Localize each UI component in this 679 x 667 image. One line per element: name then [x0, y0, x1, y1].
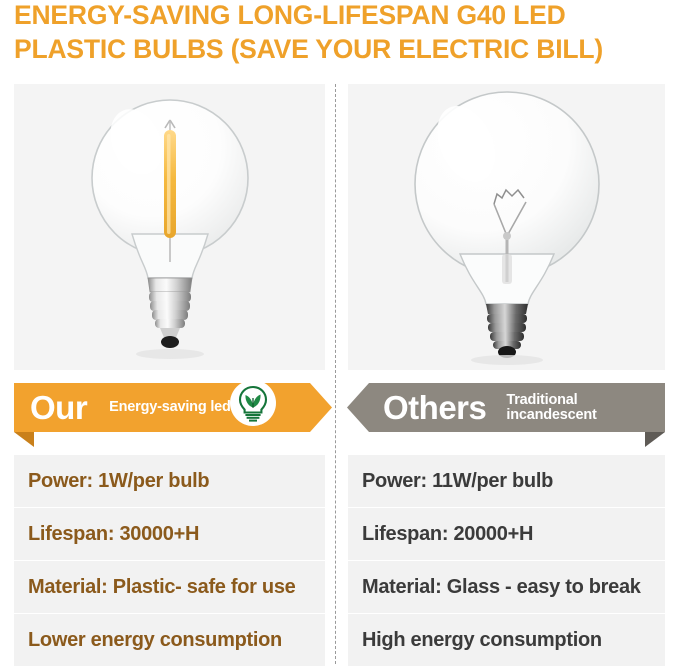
table-row: Material: Plastic- safe for use Material… [0, 561, 679, 613]
eco-bulb-leaf-icon [229, 379, 277, 427]
banner-our-title: Our [30, 391, 87, 424]
table-row: Lower energy consumption High energy con… [0, 614, 679, 666]
comparison-cell-our-consumption: Lower energy consumption [14, 614, 325, 666]
product-image-panel-incandescent [348, 84, 665, 370]
comparison-cell-others-lifespan: Lifespan: 20000+H [348, 508, 665, 560]
banner-others-title: Others [383, 391, 486, 424]
page-title-line-1: ENERGY-SAVING LONG-LIFESPAN G40 LED [14, 0, 674, 32]
comparison-cell-our-power: Power: 1W/per bulb [14, 455, 325, 507]
banner-our-fold [14, 432, 34, 447]
led-bulb-icon [70, 86, 270, 368]
banner-others: Others Traditional incandescent [347, 383, 665, 432]
banner-others-subtitle: Traditional incandescent [506, 393, 665, 423]
banner-others-fold [645, 432, 665, 447]
cell-text: Lower energy consumption [28, 629, 282, 651]
comparison-cell-our-lifespan: Lifespan: 30000+H [14, 508, 325, 560]
comparison-cell-others-material: Material: Glass - easy to break [348, 561, 665, 613]
led-bulb-illustration [14, 84, 325, 370]
cell-text: Lifespan: 30000+H [28, 523, 199, 545]
comparison-table: Power: 1W/per bulb Power: 11W/per bulb L… [0, 455, 679, 667]
banner-our: Our Energy-saving led [14, 383, 332, 432]
incandescent-bulb-icon [402, 86, 612, 368]
comparison-cell-others-power: Power: 11W/per bulb [348, 455, 665, 507]
table-row: Lifespan: 30000+H Lifespan: 20000+H [0, 508, 679, 560]
cell-text: Power: 11W/per bulb [362, 470, 553, 492]
product-image-panel-led [14, 84, 325, 370]
comparison-cell-our-material: Material: Plastic- safe for use [14, 561, 325, 613]
table-row: Power: 1W/per bulb Power: 11W/per bulb [0, 455, 679, 507]
page-title-line-2: PLASTIC BULBS (SAVE YOUR ELECTRIC BILL) [14, 32, 674, 66]
banner-our-subtitle: Energy-saving led [109, 400, 231, 415]
product-comparison-infographic: ENERGY-SAVING LONG-LIFESPAN G40 LED PLAS… [0, 0, 679, 664]
cell-text: Material: Glass - easy to break [362, 576, 641, 598]
cell-text: Lifespan: 20000+H [362, 523, 533, 545]
page-title: ENERGY-SAVING LONG-LIFESPAN G40 LED PLAS… [14, 0, 674, 66]
cell-text: High energy consumption [362, 629, 602, 651]
cell-text: Material: Plastic- safe for use [28, 576, 295, 598]
comparison-cell-others-consumption: High energy consumption [348, 614, 665, 666]
cell-text: Power: 1W/per bulb [28, 470, 209, 492]
incandescent-bulb-illustration [348, 84, 665, 370]
